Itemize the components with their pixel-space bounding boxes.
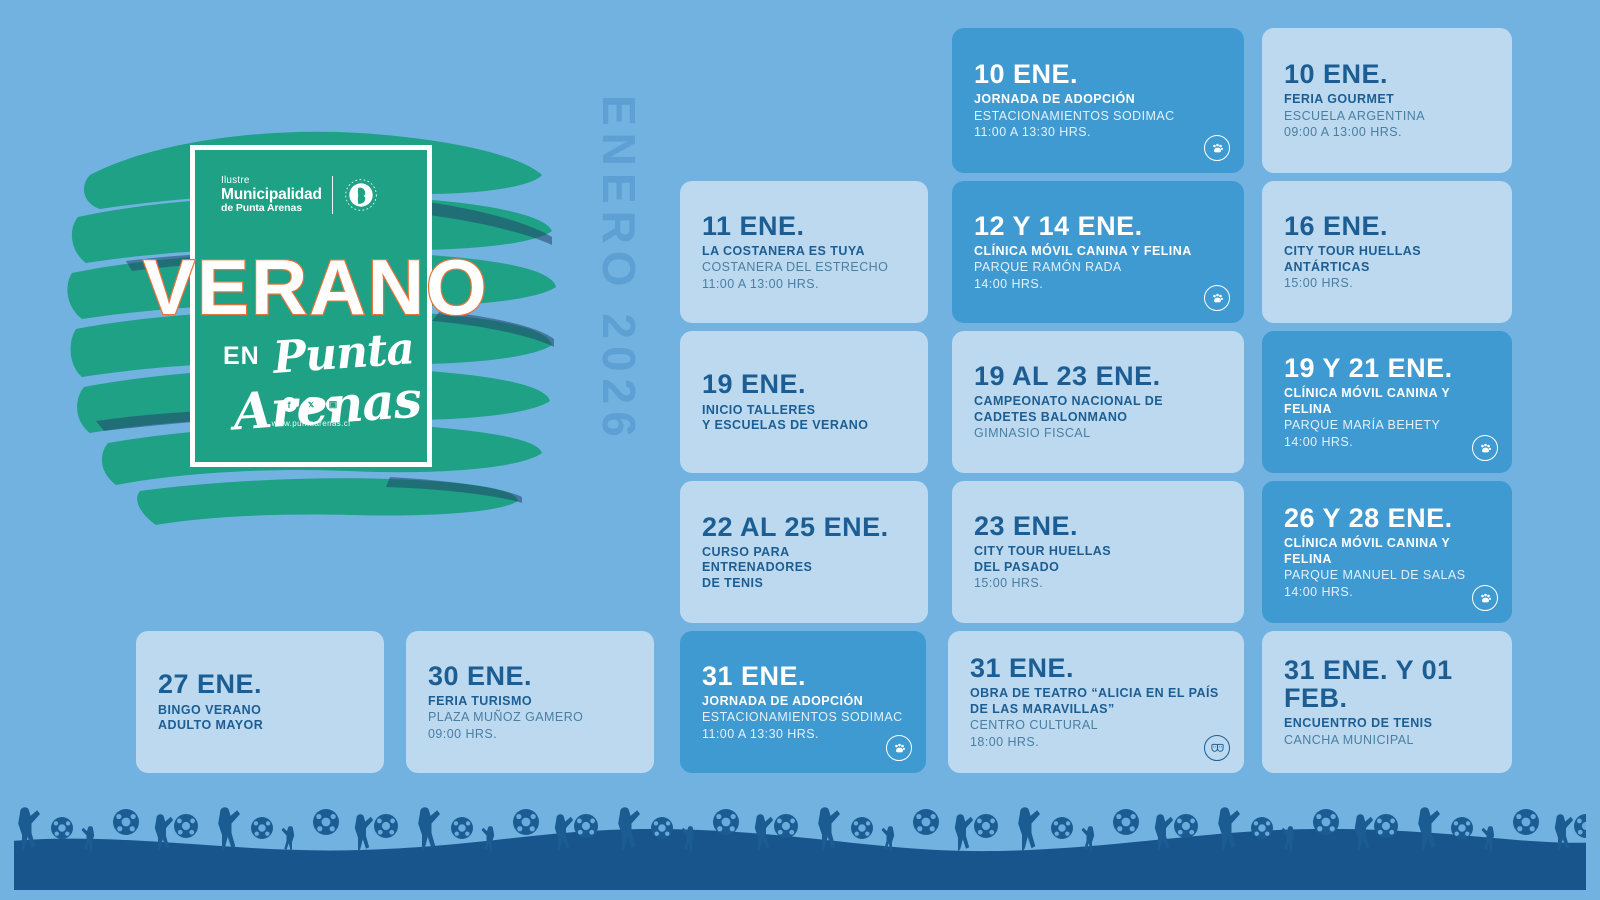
event-title: BINGO VERANOADULTO MAYOR bbox=[158, 703, 362, 734]
paw-icon bbox=[1472, 585, 1498, 611]
event-time: 15:00 HRS. bbox=[1284, 275, 1490, 292]
event-place: PARQUE MARÍA BEHETY bbox=[1284, 417, 1490, 434]
event-title: INICIO TALLERESY ESCUELAS DE VERANO bbox=[702, 403, 906, 434]
event-place: CENTRO CULTURAL bbox=[970, 717, 1222, 734]
event-title: LA COSTANERA ES TUYA bbox=[702, 244, 906, 260]
institution-line-3: de Punta Arenas bbox=[221, 203, 322, 214]
event-title: CLÍNICA MÓVIL CANINA Y FELINA bbox=[1284, 386, 1490, 417]
event-date: 27 ENE. bbox=[158, 670, 362, 698]
event-time: 11:00 A 13:30 HRS. bbox=[974, 124, 1222, 141]
paw-icon bbox=[1472, 435, 1498, 461]
event-card[interactable]: 30 ENE.FERIA TURISMOPLAZA MUÑOZ GAMERO09… bbox=[406, 631, 654, 773]
event-card[interactable]: 10 ENE.JORNADA DE ADOPCIÓNESTACIONAMIENT… bbox=[952, 28, 1244, 173]
event-place: ESCUELA ARGENTINA bbox=[1284, 108, 1490, 125]
event-place: ESTACIONAMIENTOS SODIMAC bbox=[974, 108, 1222, 125]
event-title: JORNADA DE ADOPCIÓN bbox=[702, 694, 904, 710]
event-place: ESTACIONAMIENTOS SODIMAC bbox=[702, 709, 904, 726]
event-place: PLAZA MUÑOZ GAMERO bbox=[428, 709, 632, 726]
month-label-text: ENERO 2026 bbox=[592, 95, 646, 151]
paw-icon bbox=[1204, 285, 1230, 311]
facebook-icon[interactable]: f bbox=[282, 397, 297, 412]
antarctic-city-seal-icon bbox=[343, 177, 379, 213]
event-place: COSTANERA DEL ESTRECHO bbox=[702, 259, 906, 276]
event-date: 30 ENE. bbox=[428, 662, 632, 690]
instagram-icon[interactable]: ▣ bbox=[326, 397, 341, 412]
poster-edge-right bbox=[1586, 0, 1600, 900]
event-title: CURSO PARAENTRENADORESDE TENIS bbox=[702, 545, 906, 592]
event-time: 09:00 HRS. bbox=[428, 726, 632, 743]
event-date: 23 ENE. bbox=[974, 512, 1222, 540]
event-time: 14:00 HRS. bbox=[974, 276, 1222, 293]
logo-divider bbox=[332, 176, 333, 214]
children-playing-silhouette bbox=[0, 780, 1600, 900]
event-card[interactable]: 12 Y 14 ENE.CLÍNICA MÓVIL CANINA Y FELIN… bbox=[952, 181, 1244, 323]
event-card[interactable]: 19 ENE.INICIO TALLERESY ESCUELAS DE VERA… bbox=[680, 331, 928, 473]
event-time: 11:00 A 13:30 HRS. bbox=[702, 726, 904, 743]
event-place: CANCHA MUNICIPAL bbox=[1284, 732, 1490, 749]
event-title: CAMPEONATO NACIONAL DECADETES BALONMANO bbox=[974, 394, 1222, 425]
event-card[interactable]: 11 ENE.LA COSTANERA ES TUYACOSTANERA DEL… bbox=[680, 181, 928, 323]
event-time: 11:00 A 13:00 HRS. bbox=[702, 276, 906, 293]
institution-line-2: Municipalidad bbox=[221, 187, 322, 203]
event-date: 10 ENE. bbox=[974, 60, 1222, 88]
poster-edge-top bbox=[0, 0, 1600, 12]
municipality-wordmark: Ilustre Municipalidad de Punta Arenas bbox=[221, 176, 322, 214]
event-date: 31 ENE. bbox=[970, 654, 1222, 682]
event-title: FERIA GOURMET bbox=[1284, 92, 1490, 108]
event-card[interactable]: 23 ENE.CITY TOUR HUELLASDEL PASADO15:00 … bbox=[952, 481, 1244, 623]
event-place: GIMNASIO FISCAL bbox=[974, 425, 1222, 442]
municipality-logo: Ilustre Municipalidad de Punta Arenas bbox=[221, 176, 413, 214]
event-date: 22 AL 25 ENE. bbox=[702, 513, 906, 541]
brand-logo-block: Ilustre Municipalidad de Punta Arenas VE… bbox=[60, 105, 560, 525]
event-time: 14:00 HRS. bbox=[1284, 434, 1490, 451]
event-title: CLÍNICA MÓVIL CANINA Y FELINA bbox=[974, 244, 1222, 260]
event-date: 19 ENE. bbox=[702, 370, 906, 398]
event-time: 09:00 A 13:00 HRS. bbox=[1284, 124, 1490, 141]
month-label: ENERO 2026 bbox=[592, 95, 648, 555]
event-card[interactable]: 31 ENE.JORNADA DE ADOPCIÓNESTACIONAMIENT… bbox=[680, 631, 926, 773]
event-date: 19 AL 23 ENE. bbox=[974, 362, 1222, 390]
event-place: PARQUE RAMÓN RADA bbox=[974, 259, 1222, 276]
event-date: 10 ENE. bbox=[1284, 60, 1490, 88]
event-card[interactable]: 19 AL 23 ENE.CAMPEONATO NACIONAL DECADET… bbox=[952, 331, 1244, 473]
institution-line-1: Ilustre bbox=[221, 176, 322, 187]
event-date: 31 ENE. Y 01 FEB. bbox=[1284, 656, 1490, 713]
event-date: 11 ENE. bbox=[702, 212, 906, 240]
event-date: 31 ENE. bbox=[702, 662, 904, 690]
event-card[interactable]: 31 ENE.OBRA DE TEATRO “ALICIA EN EL PAÍS… bbox=[948, 631, 1244, 773]
event-card[interactable]: 19 Y 21 ENE.CLÍNICA MÓVIL CANINA Y FELIN… bbox=[1262, 331, 1512, 473]
subtitle-en-text: EN bbox=[223, 342, 260, 370]
event-title: CITY TOUR HUELLASANTÁRTICAS bbox=[1284, 244, 1490, 275]
event-time: 18:00 HRS. bbox=[970, 734, 1222, 751]
event-title: CITY TOUR HUELLASDEL PASADO bbox=[974, 544, 1222, 575]
subtitle-en: EN bbox=[223, 342, 260, 371]
poster-canvas: Ilustre Municipalidad de Punta Arenas VE… bbox=[0, 0, 1600, 900]
paw-icon bbox=[1204, 135, 1230, 161]
event-card[interactable]: 27 ENE.BINGO VERANOADULTO MAYOR bbox=[136, 631, 384, 773]
theater-masks-icon bbox=[1204, 735, 1230, 761]
poster-edge-left bbox=[0, 0, 14, 900]
event-title: OBRA DE TEATRO “ALICIA EN EL PAÍSDE LAS … bbox=[970, 686, 1222, 717]
event-date: 16 ENE. bbox=[1284, 212, 1490, 240]
website-url[interactable]: www.puntaarenas.cl bbox=[195, 419, 427, 428]
event-title: ENCUENTRO DE TENIS bbox=[1284, 716, 1490, 732]
event-card[interactable]: 22 AL 25 ENE.CURSO PARAENTRENADORESDE TE… bbox=[680, 481, 928, 623]
event-time: 15:00 HRS. bbox=[974, 575, 1222, 592]
event-date: 19 Y 21 ENE. bbox=[1284, 354, 1490, 382]
paw-icon bbox=[886, 735, 912, 761]
event-date: 26 Y 28 ENE. bbox=[1284, 504, 1490, 532]
page-title: VERANO bbox=[143, 252, 573, 324]
brand-card: Ilustre Municipalidad de Punta Arenas VE… bbox=[190, 145, 432, 467]
event-card[interactable]: 10 ENE.FERIA GOURMETESCUELA ARGENTINA09:… bbox=[1262, 28, 1512, 173]
poster-edge-bottom bbox=[0, 890, 1600, 900]
event-title: FERIA TURISMO bbox=[428, 694, 632, 710]
social-links: f 𝕩 ▣ www.puntaarenas.cl bbox=[195, 397, 427, 428]
event-card[interactable]: 16 ENE.CITY TOUR HUELLASANTÁRTICAS15:00 … bbox=[1262, 181, 1512, 323]
x-twitter-icon[interactable]: 𝕩 bbox=[304, 397, 319, 412]
event-title: CLÍNICA MÓVIL CANINA Y FELINA bbox=[1284, 536, 1490, 567]
event-card[interactable]: 26 Y 28 ENE.CLÍNICA MÓVIL CANINA Y FELIN… bbox=[1262, 481, 1512, 623]
event-card[interactable]: 31 ENE. Y 01 FEB.ENCUENTRO DE TENISCANCH… bbox=[1262, 631, 1512, 773]
event-time: 14:00 HRS. bbox=[1284, 584, 1490, 601]
event-place: PARQUE MANUEL DE SALAS bbox=[1284, 567, 1490, 584]
event-date: 12 Y 14 ENE. bbox=[974, 212, 1222, 240]
event-title: JORNADA DE ADOPCIÓN bbox=[974, 92, 1222, 108]
